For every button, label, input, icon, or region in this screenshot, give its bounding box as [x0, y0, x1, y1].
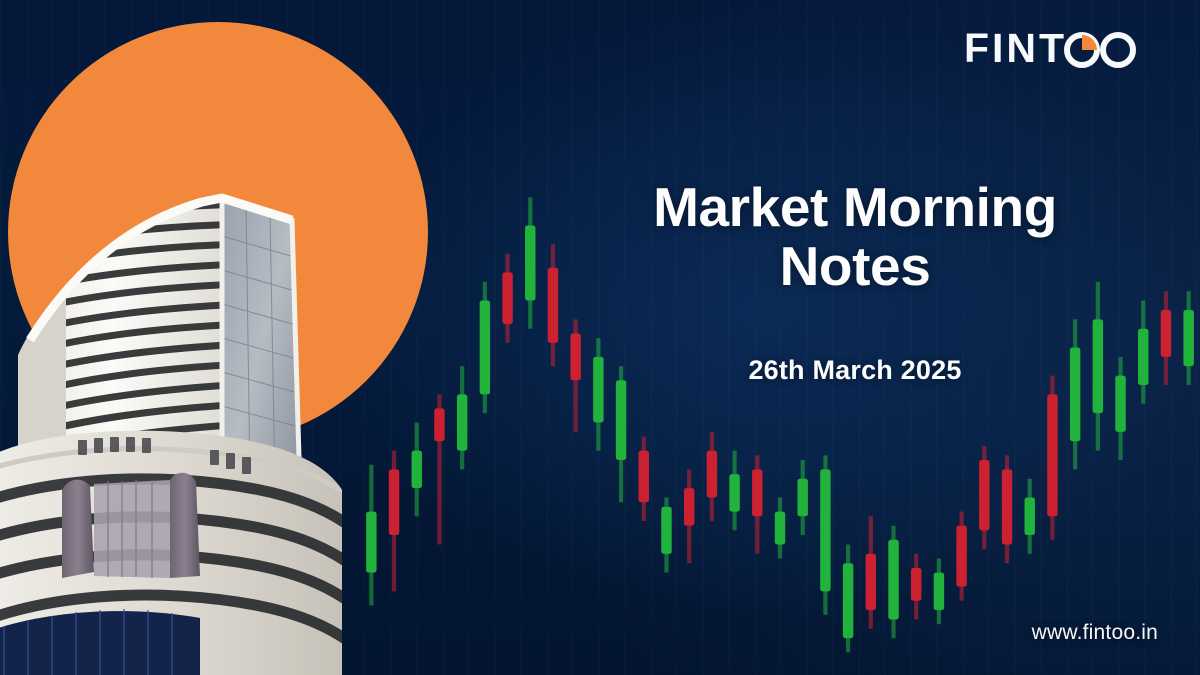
candle-body [911, 568, 921, 601]
candlestick [1183, 291, 1193, 385]
candle-body [1183, 310, 1193, 366]
candle-body [1115, 376, 1125, 432]
candle-body [616, 380, 626, 460]
headline-line-2: Notes [780, 235, 931, 297]
candlestick [570, 319, 580, 432]
candle-body [979, 460, 989, 530]
service-core [62, 473, 200, 578]
candle-body [412, 451, 422, 489]
candlestick [434, 394, 444, 544]
candlestick [707, 432, 717, 521]
candle-body [729, 474, 739, 512]
candle-body [548, 268, 558, 343]
fintoo-logo-svg: FINT [964, 26, 1154, 76]
logo-o-accent [1067, 35, 1097, 65]
candle-body [525, 226, 535, 301]
candlestick [480, 282, 490, 413]
candlestick [820, 455, 830, 614]
candlestick [412, 423, 422, 517]
candlestick [775, 498, 785, 559]
candlestick [616, 366, 626, 502]
candlestick [979, 446, 989, 549]
candle-body [934, 573, 944, 611]
page-title: Market Morning Notes [600, 178, 1110, 297]
candle-body [1002, 469, 1012, 544]
candlestick [1161, 291, 1171, 385]
candlestick [661, 498, 671, 573]
logo-o-plain [1103, 35, 1133, 65]
candle-body [843, 563, 853, 638]
candle-body [1138, 329, 1148, 385]
bse-building-photo [0, 140, 390, 675]
candlestick [389, 451, 399, 592]
candlestick [1047, 376, 1057, 540]
headline-block: Market Morning Notes 26th March 2025 [600, 178, 1110, 386]
headline-line-1: Market Morning [653, 176, 1057, 238]
candle-body [775, 512, 785, 545]
candle-body [866, 554, 876, 610]
candle-body [502, 272, 512, 324]
candle-body [661, 507, 671, 554]
candle-body [1161, 310, 1171, 357]
candlestick [729, 451, 739, 531]
bse-building-svg [0, 140, 390, 675]
candle-body [752, 469, 762, 516]
candlestick [866, 516, 876, 629]
website-url[interactable]: www.fintoo.in [1032, 621, 1158, 645]
candle-body [457, 394, 467, 450]
candlestick [956, 512, 966, 601]
logo-letters-fint: FINT [964, 26, 1067, 71]
candlestick [752, 455, 762, 553]
candlestick [1138, 301, 1148, 404]
candle-body [434, 408, 444, 441]
candlestick [639, 437, 649, 521]
candle-body [1025, 498, 1035, 536]
candle-body [1047, 394, 1057, 516]
candlestick [1025, 479, 1035, 554]
candlestick [843, 544, 853, 652]
candle-body [684, 488, 694, 526]
candle-body [956, 526, 966, 587]
candlestick [1115, 357, 1125, 460]
publish-date: 26th March 2025 [600, 355, 1110, 386]
candlestick [684, 469, 694, 563]
candle-body [570, 333, 580, 380]
candle-body [389, 469, 399, 535]
fintoo-logo[interactable]: FINT [964, 26, 1154, 76]
candlestick [548, 244, 558, 366]
candlestick [797, 460, 807, 535]
candlestick [525, 197, 535, 328]
candlestick [888, 526, 898, 639]
candlestick [911, 554, 921, 620]
candlestick [502, 254, 512, 343]
candle-body [820, 469, 830, 591]
candle-body [639, 451, 649, 503]
market-morning-notes-banner: FINT Market Morning Notes 26th March 202… [0, 0, 1200, 675]
candlestick [934, 559, 944, 625]
candle-body [707, 451, 717, 498]
candlestick [1002, 455, 1012, 563]
podium [0, 420, 370, 675]
candle-body [797, 479, 807, 517]
candle-body [888, 540, 898, 620]
candle-body [480, 301, 490, 395]
candlestick [457, 366, 467, 469]
